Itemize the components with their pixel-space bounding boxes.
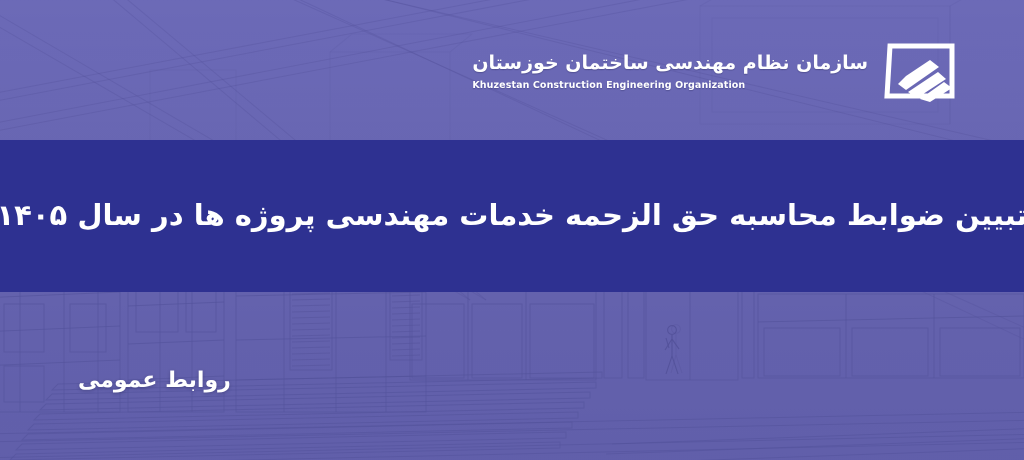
building-frame-chevron-logo-icon: [884, 40, 958, 104]
poster-canvas: سازمان نظام مهندسی ساختمان خوزستان Khuze…: [0, 0, 1024, 460]
title-banner: تبیین ضوابط محاسبه حق الزحمه خدمات مهندس…: [0, 140, 1024, 292]
poster-header: سازمان نظام مهندسی ساختمان خوزستان Khuze…: [0, 0, 1024, 140]
organization-name-fa: سازمان نظام مهندسی ساختمان خوزستان: [472, 54, 868, 73]
poster-title: تبیین ضوابط محاسبه حق الزحمه خدمات مهندس…: [0, 196, 1024, 235]
public-relations-caption: روابط عمومی: [78, 368, 231, 393]
organization-name-en: Khuzestan Construction Engineering Organ…: [472, 81, 745, 91]
organization-name-block: سازمان نظام مهندسی ساختمان خوزستان Khuze…: [472, 54, 868, 91]
organization-logo: سازمان نظام مهندسی ساختمان خوزستان Khuze…: [472, 40, 958, 104]
